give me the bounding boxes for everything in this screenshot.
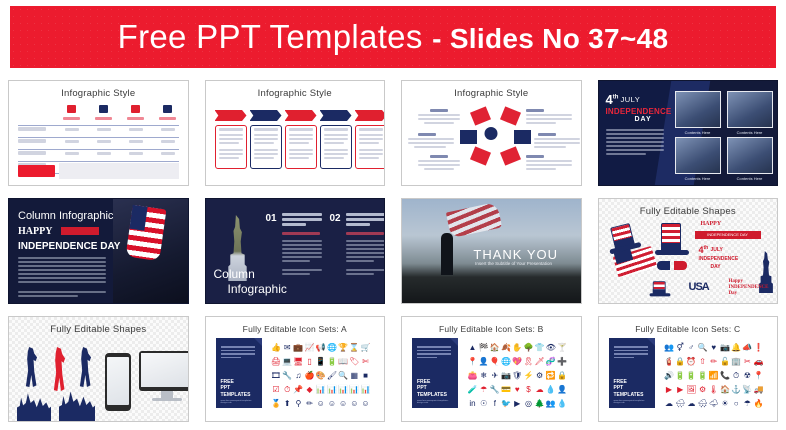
body-text xyxy=(606,149,664,151)
cloud-icon[interactable]: ☁ xyxy=(687,399,696,408)
facebook-icon[interactable]: f xyxy=(490,399,499,408)
photo-thumbnail xyxy=(675,91,721,128)
card-text xyxy=(254,134,278,136)
icon-row-4: ☑ ⏱ 📌 ◆ 📊 📊 📊 📊 📊 xyxy=(272,385,373,394)
callout-label-3: Content Here xyxy=(430,155,448,158)
gear-icon[interactable]: ⚙ xyxy=(698,385,707,394)
callout-text xyxy=(424,122,454,124)
column-head-2 xyxy=(346,218,386,221)
slide-cell-3[interactable]: Infographic Style Content Here Content H… xyxy=(393,74,590,192)
broadcast-icon[interactable]: 📡 xyxy=(743,385,752,394)
search-icon[interactable]: 🔍 xyxy=(339,371,348,380)
slide-thumb-2[interactable]: Infographic Style Text Here Text Here Te… xyxy=(205,80,386,186)
column-body-2 xyxy=(346,260,374,262)
youtube-icon[interactable]: ▶ xyxy=(676,385,685,394)
twitter-icon[interactable]: 🐦 xyxy=(502,399,511,408)
card-text xyxy=(359,134,383,136)
scissors-icon[interactable]: ✄ xyxy=(361,357,370,366)
plus-circle-icon[interactable]: ➕ xyxy=(558,357,567,366)
thumbs-up-icon[interactable]: 👍 xyxy=(272,343,281,352)
cell-value xyxy=(129,140,143,143)
plane-icon xyxy=(163,105,172,113)
month-label: JULY xyxy=(621,95,641,104)
truck-icon[interactable]: 🚚 xyxy=(754,385,763,394)
screen-icon xyxy=(99,105,108,113)
body-text xyxy=(18,281,106,283)
clock-icon[interactable]: ⏰ xyxy=(687,357,696,366)
card-text xyxy=(289,142,309,144)
paint-icon[interactable]: 🎨 xyxy=(316,371,325,380)
checklist-icon[interactable]: ☑ xyxy=(272,385,281,394)
dollar-icon[interactable]: $ xyxy=(524,385,533,394)
card-heading: Your Text Here xyxy=(219,128,243,131)
arrow-chevron-1: Text Here xyxy=(215,110,247,121)
tag-icon[interactable]: 🏷 xyxy=(350,357,359,366)
icon-row-1: 👍 ✉ 💼 📈 📢 🌐 🏆 ⌛ 🛒 xyxy=(272,343,373,352)
card-text xyxy=(254,149,278,151)
slide-thumb-10[interactable]: Fully Editable Icon Sets: A FREE PPT TEM… xyxy=(205,316,386,422)
slide-cell-9[interactable]: Fully Editable Shapes xyxy=(0,310,197,428)
card-heading xyxy=(254,128,278,131)
column-body-1 xyxy=(282,269,322,271)
heart-icon[interactable]: ♥ xyxy=(709,343,718,352)
free-ppt-templates-card: FREE PPT TEMPLATES www.free-powerpoint-t… xyxy=(412,338,458,408)
bag-icon xyxy=(131,105,140,113)
ribbon-icon[interactable]: 🎗 xyxy=(524,357,533,366)
glass-icon[interactable]: 🍸 xyxy=(558,343,567,352)
slide-2-title: Infographic Style xyxy=(206,88,385,99)
printer-icon[interactable]: 🖨 xyxy=(272,357,281,366)
mountain-icon[interactable]: ▲ xyxy=(468,343,477,352)
slide-thumb-9[interactable]: Fully Editable Shapes xyxy=(8,316,189,422)
snowflake-icon[interactable]: ❄ xyxy=(479,371,488,380)
column-card-3 xyxy=(285,125,317,169)
eye-icon[interactable]: 👁 xyxy=(546,343,555,352)
globe-icon[interactable]: 🌐 xyxy=(502,357,511,366)
arrow-chevron-2: Text Here xyxy=(250,110,282,121)
umbrella-icon[interactable]: ☂ xyxy=(743,399,752,408)
pin-icon[interactable]: 📍 xyxy=(754,371,763,380)
photo-caption: Contents Here xyxy=(675,130,721,135)
body-text xyxy=(18,273,106,275)
cloud-storm-icon[interactable]: 🌩 xyxy=(709,399,718,408)
add-text-button[interactable]: Add Text xyxy=(18,165,55,177)
column-header-1: Text Here xyxy=(63,117,80,120)
brush-icon[interactable]: 🖌 xyxy=(327,371,336,380)
chart-bar-icon[interactable]: 📊 xyxy=(339,385,348,394)
cloud-snow-icon[interactable]: 🌨 xyxy=(698,399,707,408)
people-icon[interactable]: 👥 xyxy=(546,399,555,408)
people-icon[interactable]: 👥 xyxy=(665,343,674,352)
slide-10-title: Fully Editable Icon Sets: A xyxy=(206,324,385,334)
shield-icon[interactable]: 🛡 xyxy=(513,371,522,380)
instagram-icon[interactable]: ◎ xyxy=(524,399,533,408)
trophy-icon[interactable]: 🏆 xyxy=(339,343,348,352)
plane-icon[interactable]: ✈ xyxy=(490,371,499,380)
diamond-icon[interactable]: ◆ xyxy=(305,385,314,394)
card-heading xyxy=(324,128,348,131)
card-text xyxy=(359,153,383,155)
bell-icon[interactable]: 🔔 xyxy=(732,343,741,352)
moon-icon[interactable]: ○ xyxy=(732,399,741,408)
smile-icon[interactable]: ☺ xyxy=(339,399,348,408)
gear-icon[interactable]: ⚙ xyxy=(535,371,544,380)
us-flag-icon xyxy=(125,205,166,261)
card-text xyxy=(289,157,309,159)
puzzle-piece-top-left xyxy=(470,106,491,125)
megaphone-icon[interactable]: 📢 xyxy=(316,343,325,352)
signpost-icon[interactable]: ⇧ xyxy=(698,357,707,366)
table-divider xyxy=(18,161,179,162)
book-icon[interactable]: 📖 xyxy=(339,357,348,366)
head-icon[interactable]: 👤 xyxy=(479,357,488,366)
exclaim-icon[interactable]: ❗ xyxy=(754,343,763,352)
cell-value xyxy=(161,128,175,131)
tools-icon[interactable]: 🔧 xyxy=(283,371,292,380)
card-url: www.free-powerpoint-templates-design.com xyxy=(221,400,262,404)
card-icon[interactable]: 💳 xyxy=(502,385,511,394)
puzzle-piece-bottom-left xyxy=(470,146,491,165)
free-ppt-templates-card: FREE PPT TEMPLATES www.free-powerpoint-t… xyxy=(216,338,262,408)
slide-cell-10[interactable]: Fully Editable Icon Sets: A FREE PPT TEM… xyxy=(197,310,394,428)
icon-row-5: ☁ 🌧 ☁ 🌨 🌩 ☀ ○ ☂ 🔥 xyxy=(665,399,766,408)
callout-text xyxy=(526,164,572,166)
male-female-icon[interactable]: ⚥ xyxy=(676,343,685,352)
headline: INDEPENDENCE xyxy=(606,107,672,116)
tree-icon[interactable]: 🌳 xyxy=(524,343,533,352)
column-body-2 xyxy=(346,252,386,254)
tree-pine-icon[interactable]: 🌲 xyxy=(535,399,544,408)
battery-icon[interactable]: 🔋 xyxy=(687,371,696,380)
monitor-icon[interactable]: 🖥 xyxy=(294,357,303,366)
cart-icon[interactable]: 🛒 xyxy=(361,343,370,352)
column-body-2 xyxy=(346,244,386,246)
banner-title-sub: - Slides No 37~48 xyxy=(432,23,668,54)
callout-text xyxy=(526,114,572,116)
shirt-icon[interactable]: 👕 xyxy=(535,343,544,352)
puzzle-piece-bottom-right xyxy=(500,146,521,165)
card-text xyxy=(324,142,344,144)
icon-row-3: 👛 ❄ ✈ 📷 🛡 ⚡ ⚙ 🔁 🔒 xyxy=(468,371,569,380)
callout-text xyxy=(534,142,580,144)
unlock-icon[interactable]: 🔓 xyxy=(720,357,729,366)
month-label: JULY xyxy=(711,247,723,253)
soldier-saluting-silhouette xyxy=(77,347,93,387)
anchor-icon[interactable]: ⚓ xyxy=(732,385,741,394)
callout-text xyxy=(424,168,454,170)
column-head-1 xyxy=(282,223,306,226)
slide-8-title: Fully Editable Shapes xyxy=(599,206,778,217)
sword-icon[interactable]: 🗡 xyxy=(535,357,544,366)
cell-value xyxy=(129,152,143,155)
slide-cell-8[interactable]: Fully Editable Shapes HAPPY INDEPENDENCE… xyxy=(590,192,786,310)
column-header-3: Text Here xyxy=(127,117,144,120)
icon-row-1: 👥 ⚥ ♂ 🔍 ♥ 📷 🔔 📣 ❗ xyxy=(665,343,766,352)
film-icon[interactable]: 🎞 xyxy=(272,371,281,380)
table-note: You can simply impress your audience and… xyxy=(59,163,179,179)
cell-value xyxy=(97,128,111,131)
balloon-icon[interactable]: 🎈 xyxy=(490,357,499,366)
column-card-4 xyxy=(320,125,352,169)
briefcase-icon[interactable]: 💼 xyxy=(294,343,303,352)
card-lines xyxy=(614,346,648,360)
pin-icon[interactable]: 📌 xyxy=(294,385,303,394)
slide-thumb-1[interactable]: Infographic Style Text Here Text Here Te… xyxy=(8,80,189,186)
slide-cell-6[interactable]: 01 PowerPoint Presentation 02 PowerPoint… xyxy=(197,192,394,310)
body-text xyxy=(18,295,78,297)
slide-thumb-12[interactable]: Fully Editable Icon Sets: C FREE PPT TEM… xyxy=(598,316,779,422)
card-text xyxy=(219,157,239,159)
day-number-value: 4 xyxy=(606,92,613,107)
free-ppt-templates-card: FREE PPT TEMPLATES www.free-powerpoint-t… xyxy=(609,338,655,408)
callout-text xyxy=(534,146,566,148)
dna-icon[interactable]: 🧬 xyxy=(546,357,555,366)
callout-text xyxy=(408,142,454,144)
icon-row-4: ▶ ▶ 🖼 ⚙ 🌡 🏠 ⚓ 📡 🚚 xyxy=(665,385,766,394)
column-subhead-2: PowerPoint Presentation xyxy=(346,232,384,235)
body-text xyxy=(18,269,106,271)
card-text xyxy=(289,153,313,155)
flask-icon[interactable]: 🧪 xyxy=(468,385,477,394)
card-corner-fold xyxy=(450,338,458,346)
battery-icon[interactable]: 🔋 xyxy=(698,371,707,380)
callout-text xyxy=(418,118,460,120)
slide-grid: Infographic Style Text Here Text Here Te… xyxy=(0,74,786,428)
column-card-2 xyxy=(250,125,282,169)
icon-row-3: 🎞 🔧 ♫ 🍎 🎨 🖌 🔍 ▦ ■ xyxy=(272,371,373,380)
slide-1-title: Infographic Style xyxy=(9,88,188,99)
flag-icon[interactable]: 🏁 xyxy=(479,343,488,352)
heart-hand-icon[interactable]: 💖 xyxy=(513,357,522,366)
home-icon[interactable]: 🏠 xyxy=(720,385,729,394)
pinterest-icon[interactable]: ☉ xyxy=(479,399,488,408)
chart-bar-icon[interactable]: 📊 xyxy=(327,385,336,394)
hand-icon[interactable]: ✋ xyxy=(513,343,522,352)
cloud-icon[interactable]: ☁ xyxy=(535,385,544,394)
slide-cell-12[interactable]: Fully Editable Icon Sets: C FREE PPT TEM… xyxy=(590,310,786,428)
thank-you-subtitle: Insert the Subtitle of Your Presentation xyxy=(475,261,552,266)
drop-icon[interactable]: 💧 xyxy=(558,399,567,408)
chart-bar-icon[interactable]: 📊 xyxy=(361,385,370,394)
slide-thumb-7[interactable]: THANK YOU Insert the Subtitle of Your Pr… xyxy=(401,198,582,304)
sun-icon[interactable]: ☀ xyxy=(720,399,729,408)
umbrella-icon[interactable]: ☂ xyxy=(479,385,488,394)
card-url: www.free-powerpoint-templates-design.com xyxy=(614,400,655,404)
icon-row-2: 📍 👤 🎈 🌐 💖 🎗 🗡 🧬 ➕ xyxy=(468,357,569,366)
callout-text xyxy=(408,138,454,140)
speaker-icon[interactable]: 🔊 xyxy=(665,371,674,380)
puzzle-piece-top-right xyxy=(500,106,521,125)
callout-text xyxy=(534,138,580,140)
magnifier-icon[interactable]: 🔍 xyxy=(698,343,707,352)
slide-thumb-5[interactable]: Column Infographic HAPPY FOURTH OF JULY … xyxy=(8,198,189,304)
row-label-3: Your Text Here xyxy=(18,151,46,155)
slide-thumb-8[interactable]: Fully Editable Shapes HAPPY INDEPENDENCE… xyxy=(598,198,779,304)
grid-icon[interactable]: ▦ xyxy=(350,371,359,380)
sub-headline: DAY xyxy=(635,116,652,123)
thermometer-icon[interactable]: 🌡 xyxy=(709,385,718,394)
music-icon[interactable]: ♫ xyxy=(294,371,303,380)
clock-icon[interactable]: ⏱ xyxy=(283,385,292,394)
photo-thumbnail xyxy=(727,137,773,174)
camera-icon[interactable]: 📷 xyxy=(720,343,729,352)
icon-row-3: 🔊 🔋 🔋 🔋 📶 📞 ⏱ ☢ 📍 xyxy=(665,371,766,380)
arrow-chevron-4: Text Here xyxy=(320,110,352,121)
card-text xyxy=(289,149,313,151)
card-text xyxy=(324,157,344,159)
signal-icon[interactable]: 📶 xyxy=(709,371,718,380)
cell-value xyxy=(161,152,175,155)
male-icon[interactable]: ♂ xyxy=(687,343,696,352)
body-text xyxy=(606,137,664,139)
body-text xyxy=(18,261,106,263)
card-text xyxy=(219,134,243,136)
body-text xyxy=(18,291,106,293)
slide-9-title: Fully Editable Shapes xyxy=(9,324,188,335)
slide-12-title: Fully Editable Icon Sets: C xyxy=(599,324,778,334)
globe-icon[interactable]: 🌐 xyxy=(327,343,336,352)
column-head-1 xyxy=(282,218,322,221)
script-happy-independence-day: Happy INDEPENDENCE Day xyxy=(729,279,771,297)
camera-icon[interactable]: 📷 xyxy=(502,371,511,380)
callout-text xyxy=(526,168,556,170)
square-icon[interactable]: ■ xyxy=(361,371,370,380)
fire-ext-icon[interactable]: 🧯 xyxy=(665,357,674,366)
column-head-2 xyxy=(346,223,370,226)
card-text xyxy=(324,134,348,136)
pencil-icon[interactable]: ✏ xyxy=(709,357,718,366)
slide-cell-4[interactable]: 4th JULY INDEPENDENCE DAY Contents Here … xyxy=(590,74,786,192)
small-hat-icon xyxy=(649,281,670,299)
lock-icon[interactable]: 🔒 xyxy=(558,371,567,380)
drop-icon[interactable]: 💧 xyxy=(546,385,555,394)
medal-icon[interactable]: 🏅 xyxy=(272,399,281,408)
smile-icon[interactable]: ☺ xyxy=(327,399,336,408)
slide-11-title: Fully Editable Icon Sets: B xyxy=(402,324,581,334)
table-divider xyxy=(18,125,179,126)
scissors-icon[interactable]: ✂ xyxy=(743,357,752,366)
arrow-chevron-5: Text Here xyxy=(355,110,386,121)
building-icon[interactable]: 🏢 xyxy=(732,357,741,366)
cloud-icon[interactable]: ☁ xyxy=(665,399,674,408)
smile-icon[interactable]: ☺ xyxy=(361,399,370,408)
card-corner-fold xyxy=(647,338,655,346)
play-icon[interactable]: ▶ xyxy=(665,385,674,394)
slide-thumb-3[interactable]: Infographic Style Content Here Content H… xyxy=(401,80,582,186)
linkedin-icon[interactable]: in xyxy=(468,399,477,408)
photo-caption: Contents Here xyxy=(675,176,721,181)
cell-value xyxy=(65,140,79,143)
column-body-1 xyxy=(282,240,322,242)
mail-icon[interactable]: ✉ xyxy=(283,343,292,352)
car-icon[interactable]: 🚗 xyxy=(754,357,763,366)
hourglass-icon[interactable]: ⌛ xyxy=(350,343,359,352)
slide-thumb-11[interactable]: Fully Editable Icon Sets: B FREE PPT TEM… xyxy=(401,316,582,422)
column-card-5 xyxy=(355,125,386,169)
timer-icon[interactable]: ⏱ xyxy=(732,371,741,380)
bag-icon[interactable]: 👛 xyxy=(468,371,477,380)
card-text xyxy=(324,153,348,155)
card-text xyxy=(254,142,274,144)
row-label-1: Your Text Here xyxy=(18,127,46,131)
soldier-aiming-silhouette xyxy=(23,347,39,387)
pencil-icon[interactable]: ✏ xyxy=(305,399,314,408)
row-label-2: Your Text Here xyxy=(18,139,46,143)
user-icon[interactable]: 👤 xyxy=(558,385,567,394)
phone-icon[interactable]: 📞 xyxy=(720,371,729,380)
image-icon[interactable]: 🖼 xyxy=(687,385,696,394)
chart-bar-icon[interactable]: 📊 xyxy=(350,385,359,394)
smile-icon[interactable]: ☺ xyxy=(350,399,359,408)
slide-cell-2[interactable]: Infographic Style Text Here Text Here Te… xyxy=(197,74,394,192)
wrench-icon[interactable]: 🔧 xyxy=(490,385,499,394)
puzzle-piece-left xyxy=(460,130,477,144)
body-text xyxy=(606,129,664,131)
callout-label-2: Content Here xyxy=(418,133,436,136)
funnel-icon[interactable]: ⚲ xyxy=(294,399,303,408)
column-header-4: Text Here xyxy=(159,117,176,120)
uncle-sam-hat-icon xyxy=(655,223,689,257)
heart-icon[interactable]: ♥ xyxy=(513,385,522,394)
chart-icon[interactable]: 📈 xyxy=(305,343,314,352)
column-body-1 xyxy=(282,252,322,254)
card-text xyxy=(219,149,243,151)
tablet-icon[interactable]: ▯ xyxy=(305,357,314,366)
map-pin-icon[interactable]: 📍 xyxy=(468,357,477,366)
smile-icon[interactable]: ☺ xyxy=(316,399,325,408)
slide-cell-5[interactable]: Column Infographic HAPPY FOURTH OF JULY … xyxy=(0,192,197,310)
home-icon[interactable]: 🏠 xyxy=(490,343,499,352)
leaf-icon[interactable]: 🍂 xyxy=(502,343,511,352)
apple-icon[interactable]: 🍎 xyxy=(305,371,314,380)
column-header-2: Text Here xyxy=(95,117,112,120)
slide-thumb-6[interactable]: 01 PowerPoint Presentation 02 PowerPoint… xyxy=(205,198,386,304)
table-divider xyxy=(18,149,179,150)
arrow-up-icon[interactable]: ⬆ xyxy=(283,399,292,408)
column-body-1 xyxy=(282,256,322,258)
battery-icon[interactable]: 🔋 xyxy=(676,371,685,380)
lightning-icon[interactable]: ⚡ xyxy=(524,371,533,380)
slide-cell-7[interactable]: THANK YOU Insert the Subtitle of Your Pr… xyxy=(393,192,590,310)
callout-label-5: Content Here xyxy=(538,133,556,136)
battery-icon[interactable]: 🔋 xyxy=(327,357,336,366)
phone-icon[interactable]: 📱 xyxy=(316,357,325,366)
cloud-rain-icon[interactable]: 🌧 xyxy=(676,399,685,408)
column-body-2 xyxy=(346,248,386,250)
megaphone-icon[interactable]: 📣 xyxy=(743,343,752,352)
city-skyline-silhouette xyxy=(17,391,51,421)
slide-thumb-4[interactable]: 4th JULY INDEPENDENCE DAY Contents Here … xyxy=(598,80,779,186)
banner-title: Free PPT Templates - Slides No 37~48 xyxy=(118,18,669,56)
slide-cell-1[interactable]: Infographic Style Text Here Text Here Te… xyxy=(0,74,197,192)
radiation-icon[interactable]: ☢ xyxy=(743,371,752,380)
card-free-label: FREE PPT TEMPLATES xyxy=(417,379,447,399)
chart-bar-icon[interactable]: 📊 xyxy=(316,385,325,394)
card-text xyxy=(324,149,348,151)
share-icon[interactable]: 🔁 xyxy=(546,371,555,380)
slide-cell-11[interactable]: Fully Editable Icon Sets: B FREE PPT TEM… xyxy=(393,310,590,428)
slide-6-title-line2: Infographic xyxy=(228,282,287,296)
lock-icon[interactable]: 🔒 xyxy=(676,357,685,366)
laptop-icon[interactable]: 💻 xyxy=(283,357,292,366)
card-heading xyxy=(289,128,313,131)
fire-icon[interactable]: 🔥 xyxy=(754,399,763,408)
video-icon[interactable]: ▶ xyxy=(513,399,522,408)
sub-headline: DAY xyxy=(711,264,721,270)
cell-value xyxy=(161,140,175,143)
column-body-2 xyxy=(346,269,386,271)
slide-3-title: Infographic Style xyxy=(402,88,581,99)
